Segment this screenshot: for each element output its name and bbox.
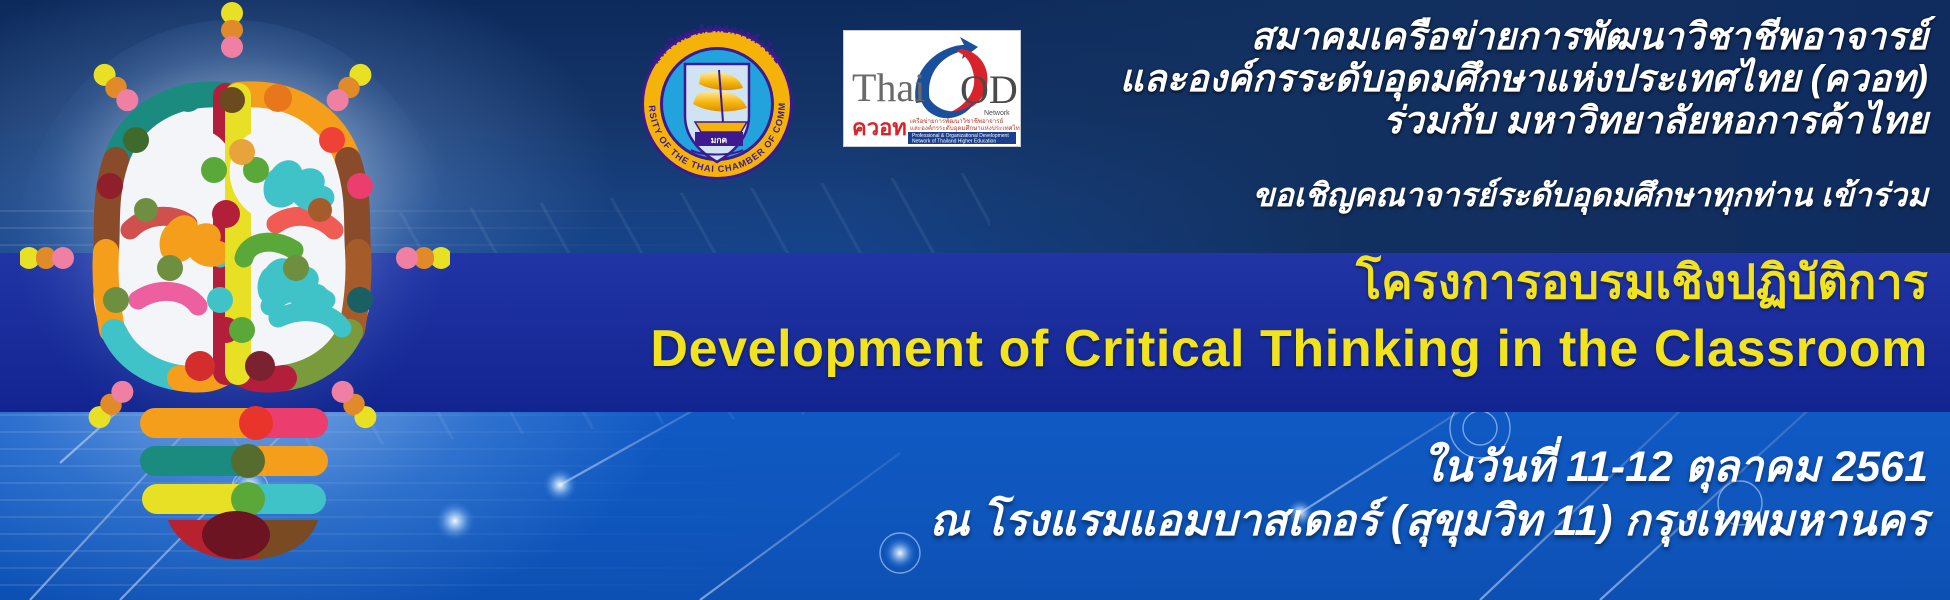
- university-seal-utcc: มหาวิทยาลัยหอการค้าไทย UNIVERSITY OF THE…: [625, 12, 810, 182]
- brain-lightbulb-illustration: [20, 0, 450, 600]
- bulb-base-cap: [168, 511, 318, 560]
- event-title-english: Development of Critical Thinking in the …: [308, 322, 1928, 376]
- organizer-line-3: ร่วมกับ มหาวิทยาลัยหอการค้าไทย: [808, 100, 1928, 142]
- organizer-line-1: สมาคมเครือข่ายการพัฒนาวิชาชีพอาจารย์: [808, 16, 1928, 58]
- invitation-text: ขอเชิญคณาจารย์ระดับอุดมศึกษาทุกท่าน เข้า…: [808, 170, 1928, 221]
- event-banner: มหาวิทยาลัยหอการค้าไทย UNIVERSITY OF THE…: [0, 0, 1950, 600]
- organizer-block: สมาคมเครือข่ายการพัฒนาวิชาชีพอาจารย์ และ…: [808, 16, 1928, 143]
- event-venue: ณ โรงแรมแอมบาสเดอร์ (สุขุมวิท 11) กรุงเท…: [528, 486, 1928, 554]
- bulb-base-bars: [140, 406, 328, 516]
- svg-text:มกค: มกค: [711, 135, 728, 145]
- event-title-thai: โครงการอบรมเชิงปฏิบัติการ: [428, 258, 1928, 307]
- organizer-line-2: และองค์กรระดับอุดมศึกษาแห่งประเทศไทย (คว…: [808, 58, 1928, 100]
